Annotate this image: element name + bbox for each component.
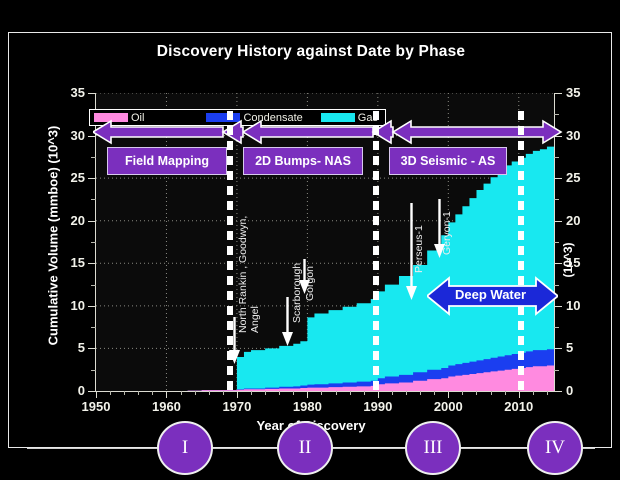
chart-frame: Discovery History against Date by Phase … — [8, 32, 612, 448]
x-tick-minor-1978 — [293, 391, 294, 395]
x-tick-minor-1964 — [195, 391, 196, 395]
x-tick-minor-1976 — [279, 391, 280, 395]
y-tick-label-left-35: 35 — [55, 85, 85, 100]
x-tick-minor-2006 — [491, 391, 492, 395]
phase-arrow-1 — [93, 121, 223, 143]
y-axis-title-right: (10^3) — [561, 220, 575, 300]
phase-arrow-join-1 — [223, 121, 243, 143]
y-tick-minor-right-25 — [554, 157, 559, 158]
y-tick-minor-left-0 — [91, 370, 96, 371]
x-tick-minor-1982 — [321, 391, 322, 395]
y-tick-minor-left-15 — [91, 242, 96, 243]
x-tick-2000 — [448, 391, 449, 398]
y-tick-minor-left-5 — [91, 327, 96, 328]
y-tick-minor-right-0 — [554, 370, 559, 371]
screenshot-root: Discovery History against Date by Phase … — [0, 0, 620, 480]
y-tick-minor-left-20 — [91, 199, 96, 200]
y-tick-label-left-0: 0 — [55, 383, 85, 398]
y-tick-minor-right-20 — [554, 199, 559, 200]
phase-box-field-mapping[interactable]: Field Mapping — [107, 147, 227, 175]
x-tick-1970 — [237, 391, 238, 398]
y-tick-label-right-30: 30 — [566, 128, 596, 143]
x-tick-minor-1998 — [434, 391, 435, 395]
x-tick-minor-1954 — [124, 391, 125, 395]
x-tick-minor-1974 — [265, 391, 266, 395]
x-tick-label-1950: 1950 — [66, 399, 126, 414]
y-tick-minor-left-10 — [91, 285, 96, 286]
x-tick-minor-1992 — [392, 391, 393, 395]
x-tick-minor-1952 — [110, 391, 111, 395]
x-tick-label-1980: 1980 — [277, 399, 337, 414]
arrow-gorgon — [298, 259, 311, 295]
arrow-geryon-1 — [433, 199, 446, 259]
x-tick-1950 — [96, 391, 97, 398]
phase-arrow-2 — [243, 121, 373, 143]
y-tick-left-10 — [88, 306, 96, 307]
phase-divider-3 — [518, 111, 524, 393]
x-tick-label-1990: 1990 — [348, 399, 408, 414]
x-tick-label-1970: 1970 — [207, 399, 267, 414]
x-tick-1960 — [166, 391, 167, 398]
y-tick-minor-left-25 — [91, 157, 96, 158]
annotation-north-rankin-goodwyn: North Rankin , Goodwyn, — [237, 216, 249, 333]
phase-marker-ii[interactable]: II — [277, 421, 333, 475]
x-tick-label-2000: 2000 — [418, 399, 478, 414]
y-tick-label-right-25: 25 — [566, 170, 596, 185]
phase-arrow-3 — [393, 121, 561, 143]
x-tick-1980 — [307, 391, 308, 398]
y-tick-left-15 — [88, 263, 96, 264]
y-tick-right-0 — [554, 391, 562, 392]
phase-marker-row: I II III IV — [9, 421, 613, 477]
x-tick-minor-2008 — [505, 391, 506, 395]
phase-marker-i[interactable]: I — [157, 421, 213, 475]
x-tick-minor-1962 — [181, 391, 182, 395]
x-tick-minor-1996 — [420, 391, 421, 395]
x-tick-minor-1988 — [364, 391, 365, 395]
phase-arrow-band — [93, 119, 563, 145]
x-tick-minor-1966 — [209, 391, 210, 395]
y-tick-label-right-35: 35 — [566, 85, 596, 100]
x-tick-minor-1958 — [152, 391, 153, 395]
chart-title: Discovery History against Date by Phase — [9, 43, 613, 61]
deep-water-label: Deep Water — [455, 287, 526, 302]
y-tick-minor-right-15 — [554, 242, 559, 243]
x-tick-minor-1986 — [350, 391, 351, 395]
y-tick-right-35 — [554, 93, 562, 94]
x-tick-minor-2012 — [533, 391, 534, 395]
x-tick-minor-1994 — [406, 391, 407, 395]
arrow-perseus-1 — [405, 203, 418, 301]
y-tick-left-20 — [88, 221, 96, 222]
y-tick-minor-right-5 — [554, 327, 559, 328]
area-series — [96, 145, 554, 391]
y-tick-right-25 — [554, 178, 562, 179]
arrow-north-rankin — [228, 317, 241, 365]
y-tick-minor-right-30 — [554, 114, 559, 115]
x-axis-line — [95, 391, 555, 392]
x-tick-minor-2004 — [476, 391, 477, 395]
phase-box-2d-bumps-nas[interactable]: 2D Bumps- NAS — [243, 147, 363, 175]
phase-marker-iv[interactable]: IV — [527, 421, 583, 475]
x-tick-label-2010: 2010 — [489, 399, 549, 414]
x-tick-minor-1968 — [223, 391, 224, 395]
phase-divider-2 — [373, 111, 379, 393]
x-tick-minor-1956 — [138, 391, 139, 395]
y-tick-label-right-0: 0 — [566, 383, 596, 398]
area-gas — [96, 145, 554, 391]
y-tick-left-5 — [88, 348, 96, 349]
y-tick-right-5 — [554, 348, 562, 349]
x-tick-minor-1972 — [251, 391, 252, 395]
x-tick-minor-2002 — [462, 391, 463, 395]
x-tick-minor-2014 — [547, 391, 548, 395]
arrow-scarborough — [281, 297, 294, 347]
x-tick-minor-1984 — [336, 391, 337, 395]
annotation-angel: Angel — [249, 306, 261, 333]
y-tick-left-0 — [88, 391, 96, 392]
phase-marker-iii[interactable]: III — [405, 421, 461, 475]
y-axis-title-left: Cumulative Volume (mmboe) (10^3) — [46, 106, 61, 366]
y-tick-left-35 — [88, 93, 96, 94]
y-tick-left-25 — [88, 178, 96, 179]
y-tick-label-right-10: 10 — [566, 298, 596, 313]
y-tick-label-right-5: 5 — [566, 340, 596, 355]
phase-box-3d-seismic-as[interactable]: 3D Seismic - AS — [389, 147, 507, 175]
x-tick-label-1960: 1960 — [136, 399, 196, 414]
